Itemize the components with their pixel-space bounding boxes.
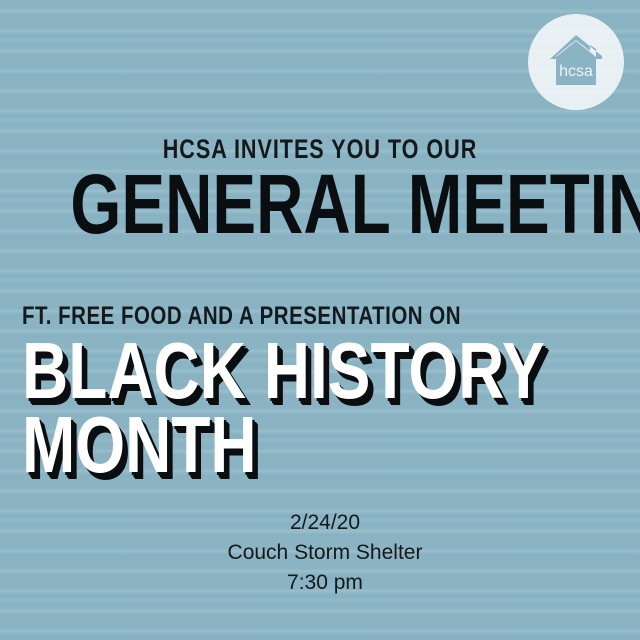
event-flyer: hcsa HCSA INVITES YOU TO OUR GENERAL MEE… bbox=[0, 0, 640, 640]
event-time: 7:30 pm bbox=[0, 568, 640, 598]
hcsa-logo: hcsa bbox=[528, 14, 624, 110]
logo-wordmark: hcsa bbox=[559, 63, 593, 80]
event-details: 2/24/20 Couch Storm Shelter 7:30 pm bbox=[0, 508, 640, 597]
event-location: Couch Storm Shelter bbox=[0, 538, 640, 568]
feature-headline: BLACK HISTORY MONTH bbox=[22, 334, 545, 483]
page-title: GENERAL MEETING bbox=[70, 168, 569, 242]
feature-headline-line-1: BLACK HISTORY bbox=[22, 334, 545, 408]
feature-headline-line-2: MONTH bbox=[22, 408, 545, 482]
event-date: 2/24/20 bbox=[0, 508, 640, 538]
house-logo-icon: hcsa bbox=[540, 29, 612, 95]
